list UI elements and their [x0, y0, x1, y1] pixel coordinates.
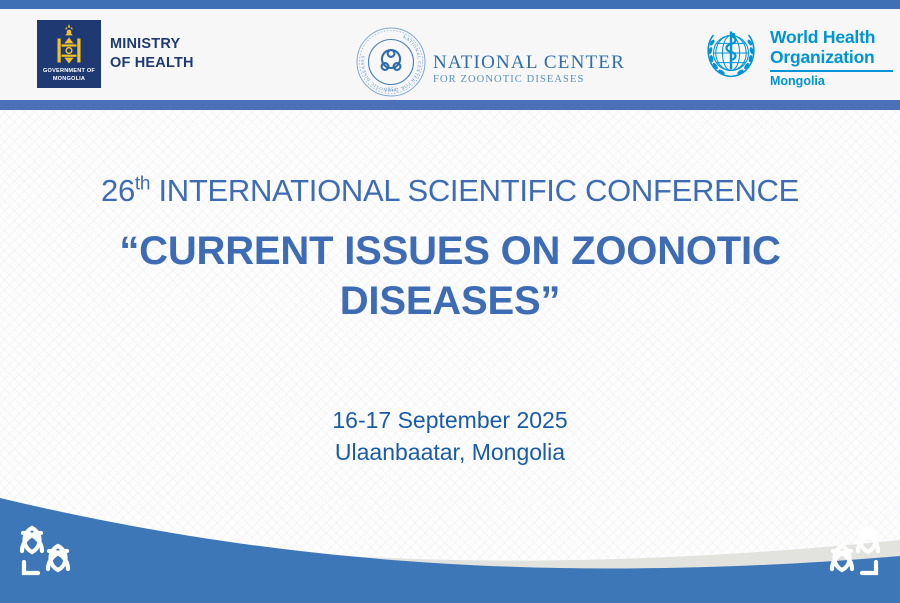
page-title: “CURRENT ISSUES ON ZOONOTIC DISEASES” [0, 226, 900, 326]
who-underline [770, 70, 893, 72]
logo-row: GOVERNMENT OF MONGOLIA MINISTRY OF HEALT… [0, 9, 900, 100]
who-emblem [700, 24, 762, 86]
ministry-of-health-logo: GOVERNMENT OF MONGOLIA MINISTRY OF HEALT… [37, 20, 194, 88]
conference-title-slide: GOVERNMENT OF MONGOLIA MINISTRY OF HEALT… [0, 0, 900, 603]
national-center-line2: FOR ZOONOTIC DISEASES [433, 73, 625, 87]
national-center-name: NATIONAL CENTER FOR ZOONOTIC DISEASES [433, 38, 625, 87]
conference-heading-text: INTERNATIONAL SCIENTIFIC CONFERENCE [150, 173, 799, 208]
seal-year: 1951 [385, 88, 397, 93]
who-logo: World Health Organization Mongolia [700, 24, 893, 89]
conference-heading: 26th INTERNATIONAL SCIENTIFIC CONFERENCE [0, 172, 900, 210]
soyombo-emblem [46, 23, 92, 67]
mongolian-knot-ornament [814, 520, 886, 582]
main-content: 26th INTERNATIONAL SCIENTIFIC CONFERENCE… [0, 110, 900, 468]
national-center-line1: NATIONAL CENTER [433, 52, 625, 73]
conference-ordinal: th [135, 174, 150, 195]
who-wordmark: World Health Organization Mongolia [770, 24, 893, 89]
who-country-label: Mongolia [770, 74, 893, 89]
date-location-block: 16-17 September 2025 Ulaanbaatar, Mongol… [0, 404, 900, 468]
biohazard-seal: NATIONAL CENTER FOR ZOONOTIC DISEASES 19… [355, 26, 427, 98]
mongolian-knot-ornament [14, 520, 86, 582]
conference-number: 26 [101, 173, 135, 208]
bottom-wave-decoration [0, 468, 900, 603]
government-of-mongolia-crest: GOVERNMENT OF MONGOLIA [37, 20, 101, 88]
wave-blue-layer [0, 498, 900, 603]
crest-caption: GOVERNMENT OF MONGOLIA [37, 67, 101, 83]
ministry-name-label: MINISTRY OF HEALTH [110, 35, 194, 73]
who-name-label: World Health Organization [770, 27, 893, 67]
top-accent-bar [0, 0, 900, 9]
national-center-logo: NATIONAL CENTER FOR ZOONOTIC DISEASES 19… [355, 26, 625, 98]
header-divider-bar [0, 100, 900, 110]
